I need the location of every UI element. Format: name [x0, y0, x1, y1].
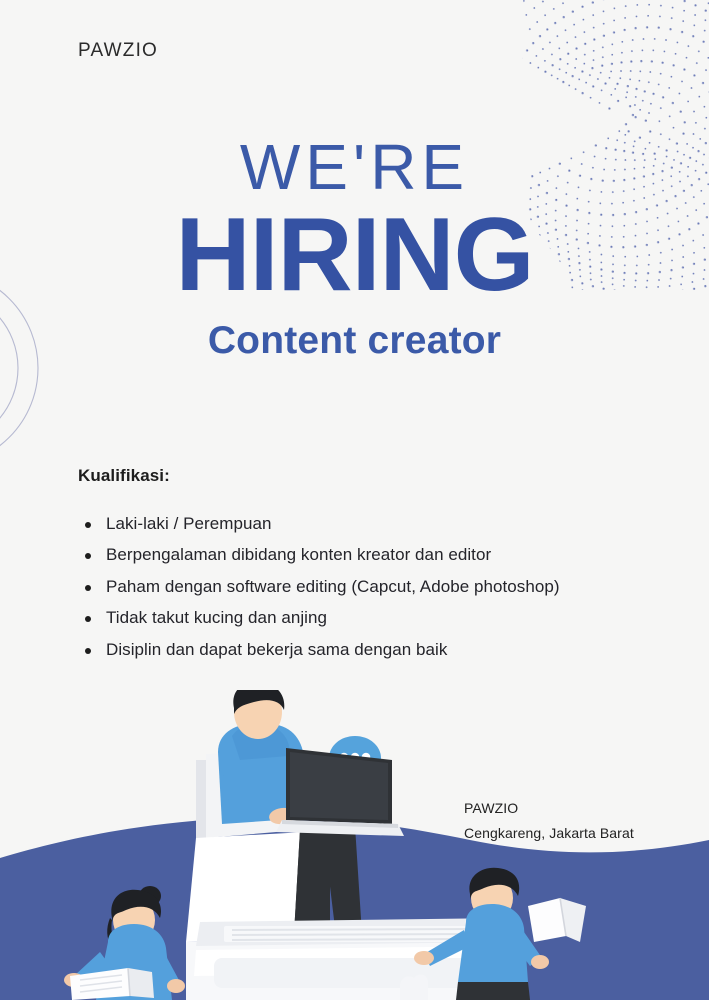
qualifications-section: Kualifikasi: Laki-laki / Perempuan Berpe…: [78, 466, 638, 665]
qualifications-list: Laki-laki / Perempuan Berpengalaman dibi…: [78, 508, 638, 665]
hiring-poster: PAWZIO WE'RE HIRING Content creator Kual…: [0, 0, 709, 1000]
headline-block: WE'RE HIRING Content creator: [0, 135, 709, 360]
headline-hiring: HIRING: [0, 203, 709, 307]
headline-role: Content creator: [0, 321, 709, 360]
headline-were: WE'RE: [0, 135, 709, 199]
foreground-props: [400, 975, 428, 1000]
qualification-item: Laki-laki / Perempuan: [78, 508, 638, 539]
qualification-item: Tidak takut kucing dan anjing: [78, 602, 638, 633]
qualification-item: Berpengalaman dibidang konten kreator da…: [78, 539, 638, 570]
qualification-item: Paham dengan software editing (Capcut, A…: [78, 571, 638, 602]
qualification-item: Disiplin dan dapat bekerja sama dengan b…: [78, 634, 638, 665]
brand-logo: PAWZIO: [78, 40, 158, 62]
qualifications-title: Kualifikasi:: [78, 466, 638, 486]
illustration: [0, 690, 709, 1000]
